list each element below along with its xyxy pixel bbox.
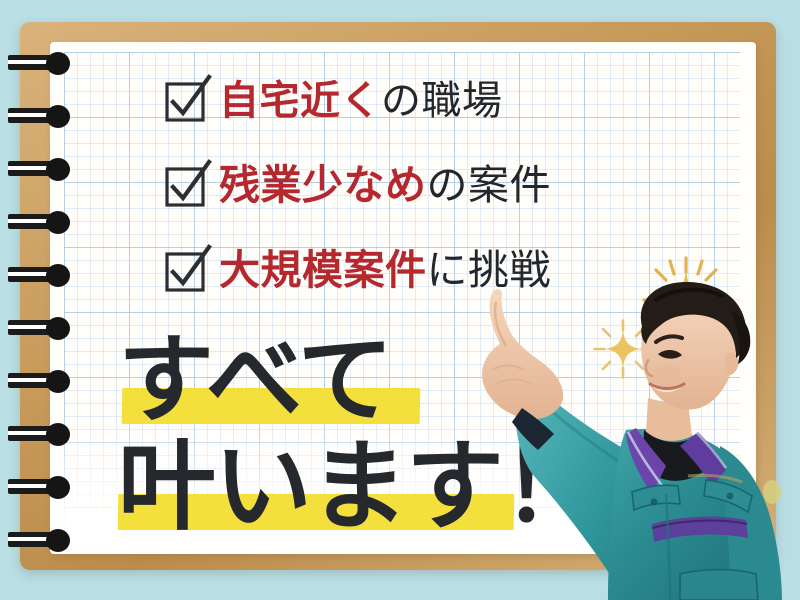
spiral-ring-knob bbox=[46, 423, 70, 446]
spiral-ring-knob bbox=[46, 158, 70, 181]
spiral-ring-knob bbox=[46, 370, 70, 393]
spiral-ring-knob bbox=[46, 211, 70, 234]
spiral-ring-knob bbox=[46, 476, 70, 499]
spiral-ring bbox=[8, 158, 82, 180]
checklist-item-plain: の案件 bbox=[427, 161, 552, 209]
checklist-item-text: 自宅近くの職場 bbox=[219, 81, 503, 121]
spiral-ring bbox=[8, 211, 82, 233]
spiral-ring-knob bbox=[46, 317, 70, 340]
poster-canvas: 自宅近くの職場 残業少なめの案件 大規模案件に挑戦 bbox=[0, 0, 800, 600]
checkbox-checked-icon bbox=[165, 252, 203, 290]
headline-text-1: すべて bbox=[118, 332, 392, 430]
checklist-item-emphasis: 大規模案件 bbox=[219, 246, 427, 294]
spiral-ring bbox=[8, 529, 82, 551]
checklist-item: 自宅近くの職場 bbox=[165, 58, 685, 143]
spiral-ring bbox=[8, 370, 82, 392]
spiral-ring bbox=[8, 52, 82, 74]
spiral-ring bbox=[8, 105, 82, 127]
spiral-ring bbox=[8, 476, 82, 498]
spiral-ring-knob bbox=[46, 52, 70, 75]
spiral-ring bbox=[8, 317, 82, 339]
spiral-ring-knob bbox=[46, 105, 70, 128]
spiral-ring-knob bbox=[46, 264, 70, 287]
checklist-item: 残業少なめの案件 bbox=[165, 143, 685, 228]
checkbox-checked-icon bbox=[165, 167, 203, 205]
spiral-binding bbox=[8, 52, 88, 552]
benefits-checklist: 自宅近くの職場 残業少なめの案件 大規模案件に挑戦 bbox=[165, 58, 685, 313]
checklist-item-text: 残業少なめの案件 bbox=[219, 165, 551, 206]
checklist-item-plain: の職場 bbox=[381, 78, 503, 124]
checkbox-checked-icon bbox=[165, 82, 203, 120]
spiral-ring bbox=[8, 264, 82, 286]
checklist-item-emphasis: 自宅近く bbox=[219, 78, 381, 124]
worker-pointing-up-photo bbox=[430, 280, 800, 600]
checklist-item-emphasis: 残業少なめ bbox=[219, 161, 427, 209]
spiral-ring-knob bbox=[46, 529, 70, 552]
spiral-ring bbox=[8, 423, 82, 445]
